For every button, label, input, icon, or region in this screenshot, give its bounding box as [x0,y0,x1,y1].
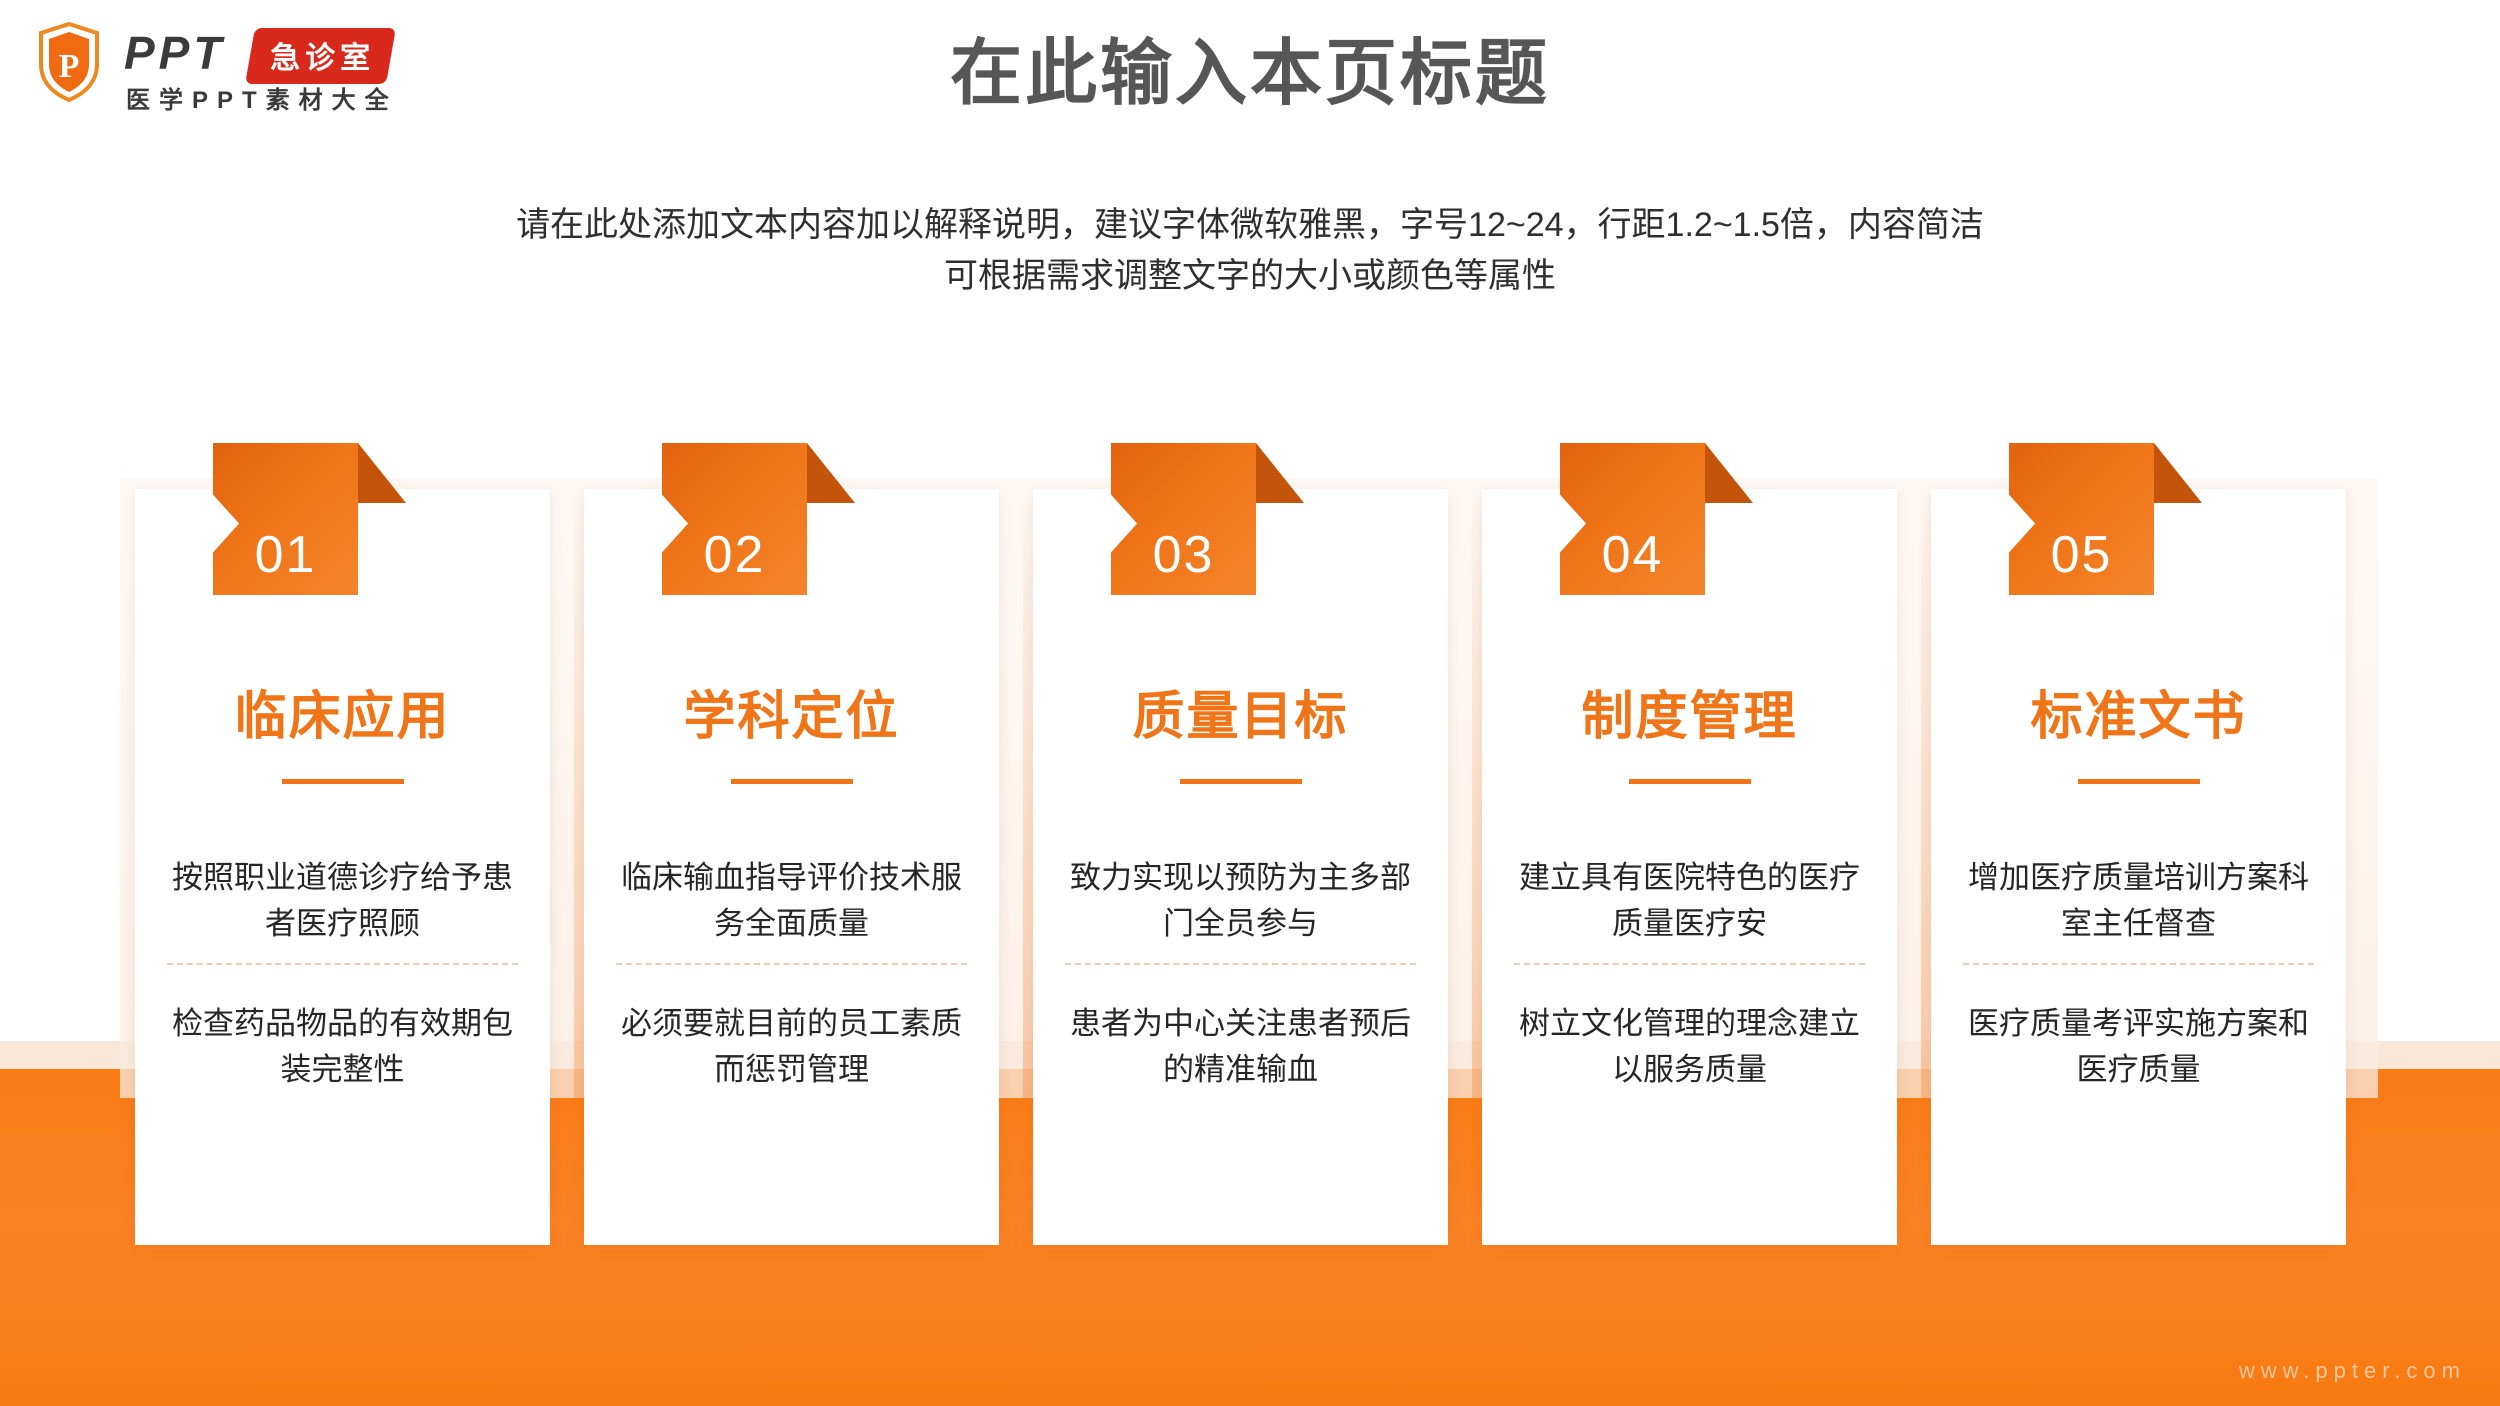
badge-fold-5 [2154,443,2202,503]
badge-number-4: 04 [1602,529,1664,595]
number-badge-2: 02 [662,443,807,595]
card-title-5: 标准文书 [1931,691,2346,743]
slide-canvas: P PPT 急诊室 医学PPT素材大全 在此输入本页标题 请在此处添加文本内容加… [0,0,2500,1406]
card-title-2: 学科定位 [584,691,999,743]
card-divider-1 [167,963,518,965]
card-body-top-2: 临床输血指导评价技术服务全面质量 [618,855,965,947]
badge-fold-1 [358,443,406,503]
card-body-bottom-4: 树立文化管理的理念建立以服务质量 [1516,1001,1863,1093]
card-divider-5 [1963,963,2314,965]
badge-number-1: 01 [255,529,317,595]
badge-fold-2 [807,443,855,503]
card-divider-4 [1514,963,1865,965]
card-body-bottom-3: 患者为中心关注患者预后的精准输血 [1067,1001,1414,1093]
card-4[interactable]: 04 制度管理 建立具有医院特色的医疗质量医疗安 树立文化管理的理念建立以服务质… [1482,489,1897,1245]
number-badge-1: 01 [213,443,358,595]
card-title-1: 临床应用 [135,691,550,743]
number-badge-3: 03 [1111,443,1256,595]
footer-watermark: www.ppter.com [2239,1358,2466,1384]
card-body-bottom-5: 医疗质量考评实施方案和医疗质量 [1965,1001,2312,1093]
card-body-top-3: 致力实现以预防为主多部门全员参与 [1067,855,1414,947]
badge-fold-3 [1256,443,1304,503]
badge-fold-4 [1705,443,1753,503]
card-body-top-5: 增加医疗质量培训方案科室主任督查 [1965,855,2312,947]
card-title-3: 质量目标 [1033,691,1448,743]
card-divider-3 [1065,963,1416,965]
card-rule-3 [1180,779,1302,784]
card-rule-4 [1629,779,1751,784]
cards-row: 01 临床应用 按照职业道德诊疗给予患者医疗照顾 检查药品物品的有效期包装完整性… [0,0,2500,1406]
badge-number-5: 05 [2051,529,2113,595]
badge-number-3: 03 [1153,529,1215,595]
number-badge-5: 05 [2009,443,2154,595]
card-2[interactable]: 02 学科定位 临床输血指导评价技术服务全面质量 必须要就目前的员工素质而惩罚管… [584,489,999,1245]
card-rule-1 [282,779,404,784]
card-3[interactable]: 03 质量目标 致力实现以预防为主多部门全员参与 患者为中心关注患者预后的精准输… [1033,489,1448,1245]
card-5[interactable]: 05 标准文书 增加医疗质量培训方案科室主任督查 医疗质量考评实施方案和医疗质量 [1931,489,2346,1245]
number-badge-4: 04 [1560,443,1705,595]
card-body-bottom-1: 检查药品物品的有效期包装完整性 [169,1001,516,1093]
card-body-top-1: 按照职业道德诊疗给予患者医疗照顾 [169,855,516,947]
badge-number-2: 02 [704,529,766,595]
card-1[interactable]: 01 临床应用 按照职业道德诊疗给予患者医疗照顾 检查药品物品的有效期包装完整性 [135,489,550,1245]
card-body-top-4: 建立具有医院特色的医疗质量医疗安 [1516,855,1863,947]
card-divider-2 [616,963,967,965]
card-title-4: 制度管理 [1482,691,1897,743]
card-rule-2 [731,779,853,784]
card-rule-5 [2078,779,2200,784]
card-body-bottom-2: 必须要就目前的员工素质而惩罚管理 [618,1001,965,1093]
